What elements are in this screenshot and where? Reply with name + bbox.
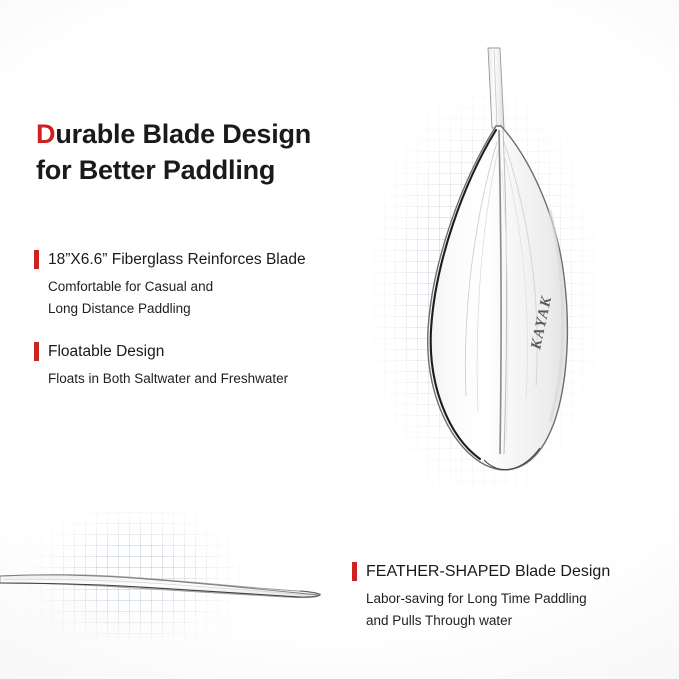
- feature-title: 18”X6.6” Fiberglass Reinforces Blade: [48, 251, 306, 269]
- page-title: Durable Blade Design for Better Paddling: [36, 116, 366, 188]
- feature-title-row: Floatable Design: [34, 342, 288, 361]
- feature-title: FEATHER-SHAPED Blade Design: [366, 563, 610, 581]
- feature-description: Labor-saving for Long Time Paddling and …: [366, 588, 610, 632]
- kayak-paddle-shaft-illustration: [0, 540, 340, 630]
- feature-title-row: 18”X6.6” Fiberglass Reinforces Blade: [34, 250, 306, 269]
- headline-line-1-rest: urable Blade Design: [55, 119, 311, 149]
- feature-description-line: Labor-saving for Long Time Paddling: [366, 588, 610, 610]
- feature-description-line: and Pulls Through water: [366, 610, 610, 632]
- feature-item-fiberglass: 18”X6.6” Fiberglass Reinforces Blade Com…: [34, 250, 306, 320]
- headline-line-2: for Better Paddling: [36, 152, 366, 188]
- feature-title-row: FEATHER-SHAPED Blade Design: [352, 562, 610, 581]
- feature-description-line: Floats in Both Saltwater and Freshwater: [48, 368, 288, 390]
- feature-item-feather-shaped: FEATHER-SHAPED Blade Design Labor-saving…: [352, 562, 610, 632]
- product-feature-page: Durable Blade Design for Better Paddling…: [0, 0, 679, 679]
- accent-bar-icon: [34, 342, 39, 361]
- accent-bar-icon: [352, 562, 357, 581]
- accent-bar-icon: [34, 250, 39, 269]
- kayak-paddle-blade-illustration: KAYAK: [400, 30, 590, 500]
- headline-drop-cap: D: [36, 119, 55, 149]
- feature-description-line: Long Distance Paddling: [48, 298, 306, 320]
- feature-description: Comfortable for Casual and Long Distance…: [48, 276, 306, 320]
- feature-description-line: Comfortable for Casual and: [48, 276, 306, 298]
- feature-title: Floatable Design: [48, 343, 164, 361]
- headline-line-1: Durable Blade Design: [36, 116, 366, 152]
- feature-description: Floats in Both Saltwater and Freshwater: [48, 368, 288, 390]
- feature-item-floatable: Floatable Design Floats in Both Saltwate…: [34, 342, 288, 390]
